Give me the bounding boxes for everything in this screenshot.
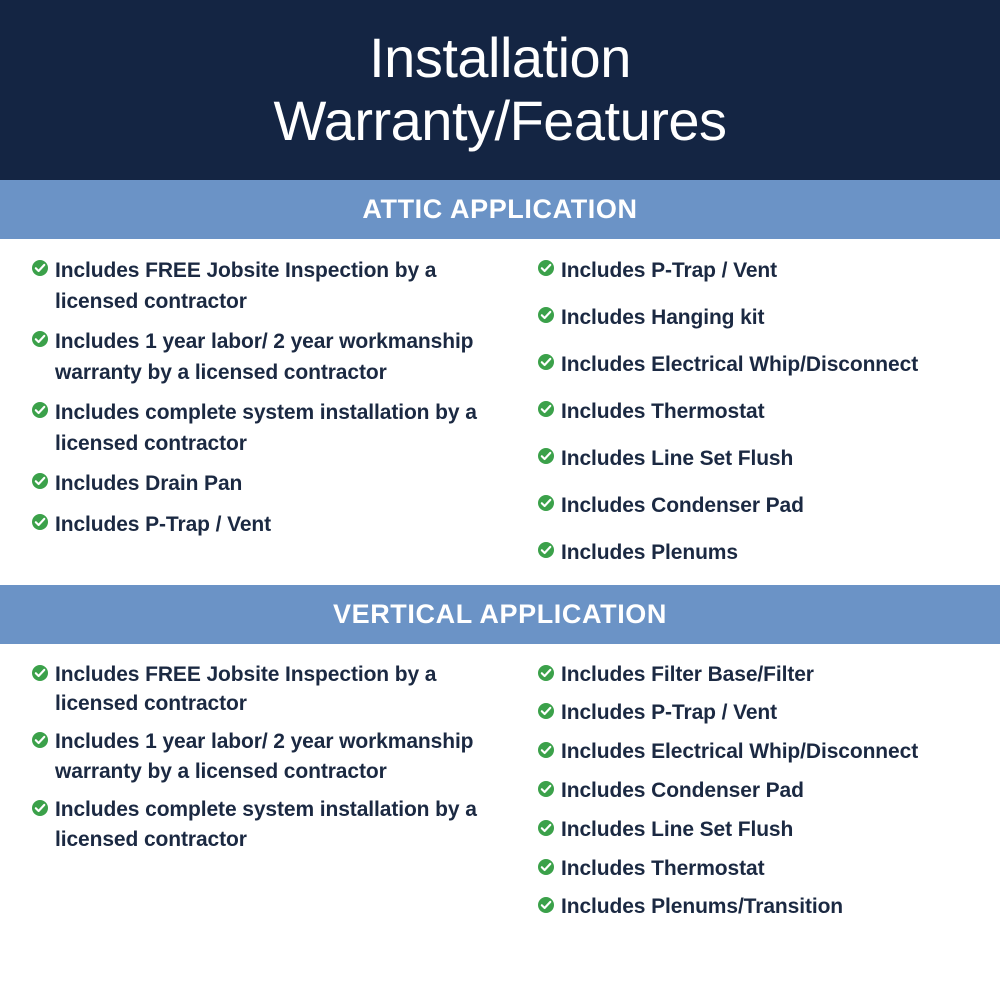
attic-left-column: Includes FREE Jobsite Inspection by a li…: [0, 255, 520, 585]
list-item-label: Includes Electrical Whip/Disconnect: [561, 349, 918, 380]
vertical-right-column: Includes Filter Base/Filter Includes P-T…: [520, 660, 1000, 932]
installation-warranty-features-page: Installation Warranty/Features ATTIC APP…: [0, 0, 1000, 1000]
section-header-vertical: VERTICAL APPLICATION: [0, 585, 1000, 644]
list-item: Includes FREE Jobsite Inspection by a li…: [32, 660, 510, 720]
check-circle-icon: [32, 732, 48, 748]
check-circle-icon: [538, 897, 554, 913]
list-item-label: Includes FREE Jobsite Inspection by a li…: [55, 255, 510, 317]
list-item-label: Includes 1 year labor/ 2 year workmanshi…: [55, 727, 510, 787]
list-item-label: Includes Line Set Flush: [561, 443, 793, 474]
list-item: Includes P-Trap / Vent: [538, 698, 990, 728]
check-circle-icon: [538, 742, 554, 758]
list-item-label: Includes Filter Base/Filter: [561, 660, 814, 690]
list-item-label: Includes Thermostat: [561, 396, 764, 427]
check-circle-icon: [538, 495, 554, 511]
list-item: Includes Condenser Pad: [538, 490, 990, 521]
check-circle-icon: [32, 665, 48, 681]
list-item: Includes Electrical Whip/Disconnect: [538, 737, 990, 767]
list-item-label: Includes Thermostat: [561, 854, 764, 884]
list-item: Includes P-Trap / Vent: [538, 255, 990, 286]
list-item: Includes FREE Jobsite Inspection by a li…: [32, 255, 510, 317]
list-item: Includes Condenser Pad: [538, 776, 990, 806]
list-item-label: Includes P-Trap / Vent: [55, 509, 271, 540]
check-circle-icon: [538, 260, 554, 276]
list-item-label: Includes 1 year labor/ 2 year workmanshi…: [55, 326, 510, 388]
list-item-label: Includes Plenums: [561, 537, 738, 568]
list-item: Includes complete system installation by…: [32, 795, 510, 855]
section-header-attic: ATTIC APPLICATION: [0, 180, 1000, 239]
list-item-label: Includes Hanging kit: [561, 302, 764, 333]
list-item: Includes Plenums: [538, 537, 990, 568]
list-item-label: Includes P-Trap / Vent: [561, 255, 777, 286]
section-header-vertical-label: VERTICAL APPLICATION: [333, 599, 667, 630]
check-circle-icon: [538, 354, 554, 370]
check-circle-icon: [32, 260, 48, 276]
list-item-label: Includes complete system installation by…: [55, 397, 510, 459]
list-item: Includes Line Set Flush: [538, 443, 990, 474]
check-circle-icon: [32, 473, 48, 489]
check-circle-icon: [538, 307, 554, 323]
list-item: Includes Electrical Whip/Disconnect: [538, 349, 990, 380]
list-item: Includes Hanging kit: [538, 302, 990, 333]
list-item: Includes Thermostat: [538, 396, 990, 427]
list-item: Includes 1 year labor/ 2 year workmanshi…: [32, 326, 510, 388]
check-circle-icon: [32, 402, 48, 418]
list-item-label: Includes P-Trap / Vent: [561, 698, 777, 728]
check-circle-icon: [538, 859, 554, 875]
section-body-vertical: Includes FREE Jobsite Inspection by a li…: [0, 644, 1000, 932]
list-item-label: Includes Condenser Pad: [561, 490, 804, 521]
list-item-label: Includes FREE Jobsite Inspection by a li…: [55, 660, 510, 720]
check-circle-icon: [538, 448, 554, 464]
list-item: Includes Line Set Flush: [538, 815, 990, 845]
check-circle-icon: [32, 331, 48, 347]
list-item: Includes P-Trap / Vent: [32, 509, 510, 540]
list-item-label: Includes Condenser Pad: [561, 776, 804, 806]
list-item-label: Includes Plenums/Transition: [561, 892, 843, 922]
list-item: Includes Drain Pan: [32, 468, 510, 499]
list-item: Includes 1 year labor/ 2 year workmanshi…: [32, 727, 510, 787]
title-banner: Installation Warranty/Features: [0, 0, 1000, 180]
check-circle-icon: [538, 542, 554, 558]
list-item: Includes complete system installation by…: [32, 397, 510, 459]
vertical-left-column: Includes FREE Jobsite Inspection by a li…: [0, 660, 520, 932]
list-item: Includes Thermostat: [538, 854, 990, 884]
list-item: Includes Filter Base/Filter: [538, 660, 990, 690]
check-circle-icon: [538, 703, 554, 719]
list-item-label: Includes Drain Pan: [55, 468, 242, 499]
page-title: Installation Warranty/Features: [253, 27, 746, 152]
list-item-label: Includes complete system installation by…: [55, 795, 510, 855]
check-circle-icon: [32, 800, 48, 816]
list-item-label: Includes Electrical Whip/Disconnect: [561, 737, 918, 767]
check-circle-icon: [32, 514, 48, 530]
section-header-attic-label: ATTIC APPLICATION: [362, 194, 637, 225]
list-item-label: Includes Line Set Flush: [561, 815, 793, 845]
check-circle-icon: [538, 401, 554, 417]
section-body-attic: Includes FREE Jobsite Inspection by a li…: [0, 239, 1000, 585]
check-circle-icon: [538, 820, 554, 836]
check-circle-icon: [538, 665, 554, 681]
attic-right-column: Includes P-Trap / Vent Includes Hanging …: [520, 255, 1000, 585]
list-item: Includes Plenums/Transition: [538, 892, 990, 922]
check-circle-icon: [538, 781, 554, 797]
